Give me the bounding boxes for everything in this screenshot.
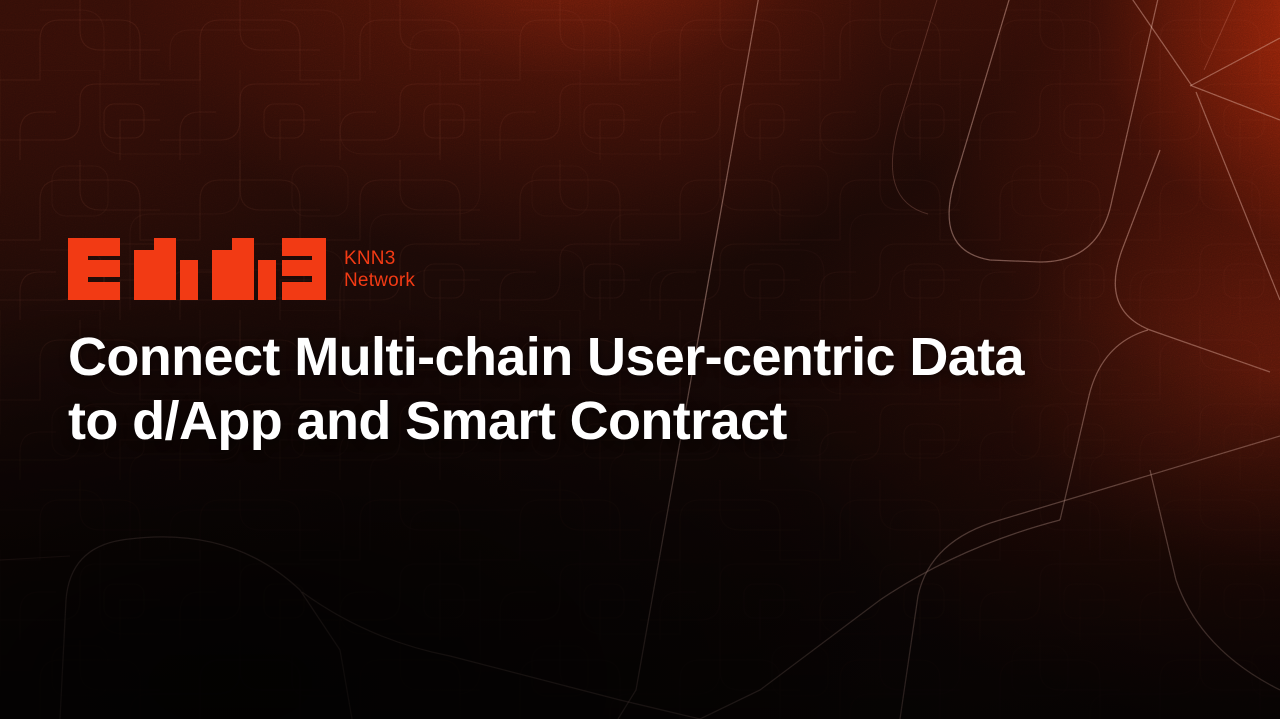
headline-line-2: to d/App and Smart Contract: [68, 390, 1188, 454]
knn3-logo-mark: [68, 238, 326, 300]
brand-wordmark: KNN3 Network: [344, 246, 415, 293]
brand-logo[interactable]: KNN3 Network: [68, 238, 1188, 300]
page-title: Connect Multi-chain User-centric Data to…: [68, 326, 1188, 453]
hero-banner: KNN3 Network Connect Multi-chain User-ce…: [0, 0, 1280, 719]
wordmark-line-2: Network: [344, 270, 415, 292]
headline-line-1: Connect Multi-chain User-centric Data: [68, 326, 1188, 390]
wordmark-line-1: KNN3: [344, 248, 415, 270]
hero-content: KNN3 Network Connect Multi-chain User-ce…: [68, 238, 1188, 453]
